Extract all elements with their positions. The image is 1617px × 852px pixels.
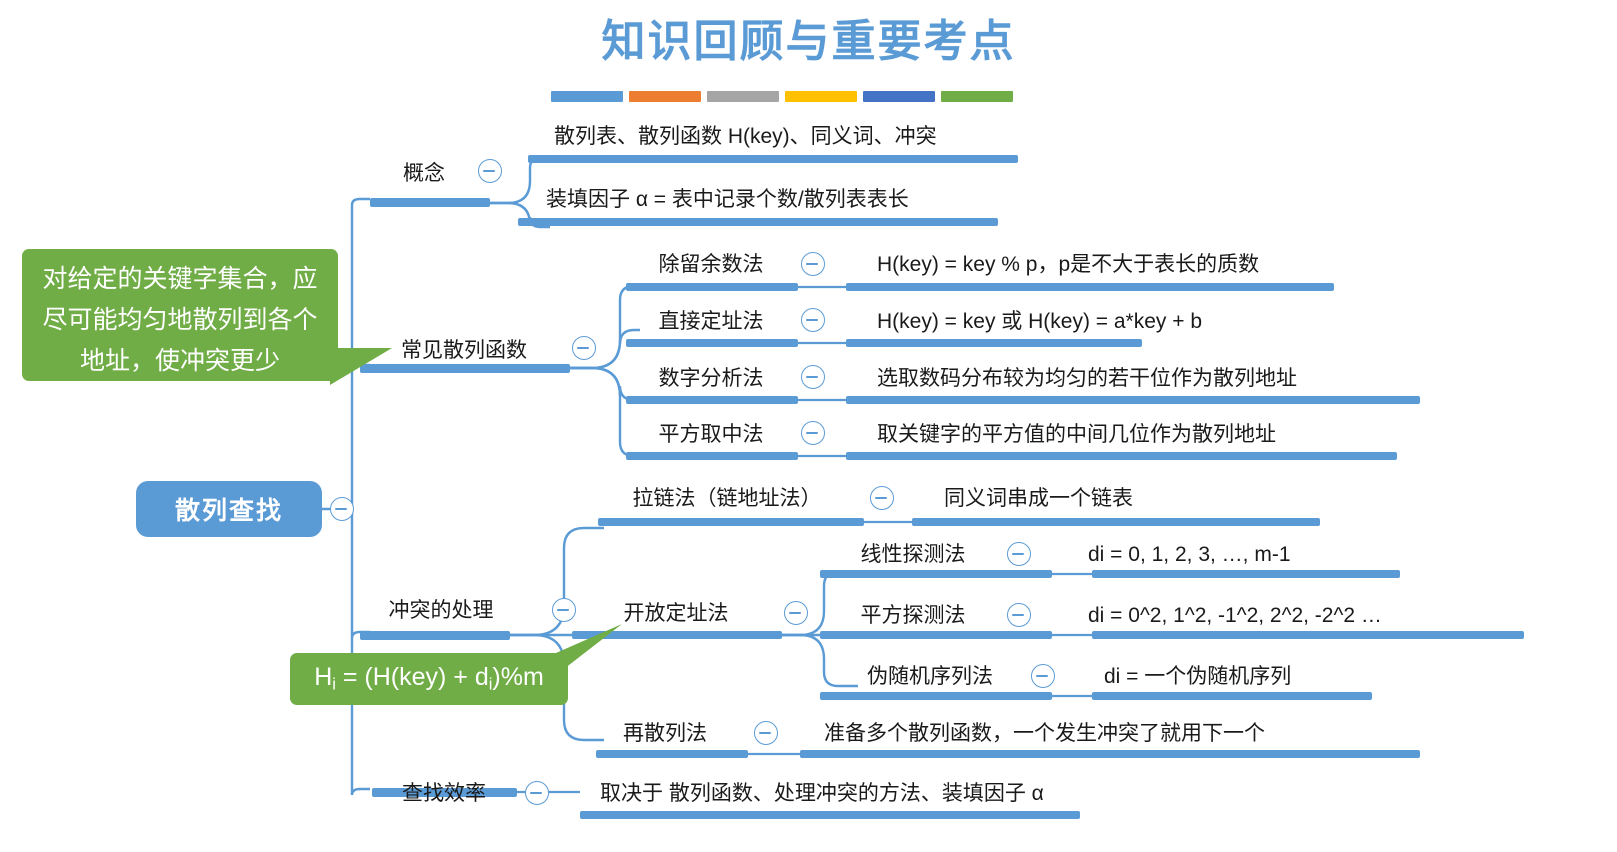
collapse-toggle-linear-probing[interactable] [1007,542,1031,566]
collapse-toggle-mid-square[interactable] [801,421,825,445]
callout-1-line-3: 地址，使冲突更少 [36,341,324,382]
node-detail-chaining[interactable]: 同义词串成一个链表 [944,488,1133,509]
node-detail-mid-square[interactable]: 取关键字的平方值的中间几位作为散列地址 [877,424,1276,445]
node-detail-quadratic-probing[interactable]: di = 0^2, 1^2, -1^2, 2^2, -2^2 … [1088,605,1382,626]
collapse-toggle-mod-method[interactable] [801,252,825,276]
node-label-direct-addressing[interactable]: 直接定址法 [659,311,764,332]
root-node[interactable]: 散列查找 [136,481,322,537]
node-detail-pseudorandom-probing[interactable]: di = 一个伪随机序列 [1104,666,1291,687]
swatch-blue [551,91,623,102]
node-detail-mod-method[interactable]: H(key) = key % p，p是不大于表长的质数 [877,254,1259,275]
collapse-toggle-chaining[interactable] [870,486,894,510]
collapse-toggle-hash-functions[interactable] [572,336,596,360]
node-label-chaining[interactable]: 拉链法（链地址法） [633,488,822,509]
swatch-navy [863,91,935,102]
swatch-green [941,91,1013,102]
node-detail-rehashing[interactable]: 准备多个散列函数，一个发生冲突了就用下一个 [824,723,1265,744]
collapse-toggle-open-addressing[interactable] [784,601,808,625]
node-label-open-addressing[interactable]: 开放定址法 [624,603,729,624]
callout-1-line-1: 对给定的关键字集合，应 [36,259,324,300]
collapse-toggle-pseudorandom-probing[interactable] [1031,664,1055,688]
node-label-hash-functions[interactable]: 常见散列函数 [401,340,527,361]
callout-open-addressing-formula: Hi = (H(key) + di)%m [290,653,568,705]
collapse-toggle-collision-handling[interactable] [552,598,576,622]
callout-1-line-2: 尽可能均匀地散列到各个 [36,300,324,341]
node-label-gainian-child-2[interactable]: 装填因子 α = 表中记录个数/散列表表长 [546,189,909,210]
node-label-mod-method[interactable]: 除留余数法 [659,254,764,275]
callout-hash-uniformity: 对给定的关键字集合，应 尽可能均匀地散列到各个 地址，使冲突更少 [22,249,338,381]
collapse-toggle-root[interactable] [330,497,354,521]
node-label-digit-analysis[interactable]: 数字分析法 [659,368,764,389]
collapse-toggle-search-efficiency[interactable] [525,781,549,805]
page-title: 知识回顾与重要考点 [0,14,1617,70]
node-label-gainian-child-1[interactable]: 散列表、散列函数 H(key)、同义词、冲突 [554,126,937,147]
collapse-toggle-digit-analysis[interactable] [801,365,825,389]
node-label-quadratic-probing[interactable]: 平方探测法 [861,605,966,626]
node-detail-digit-analysis[interactable]: 选取数码分布较为均匀的若干位作为散列地址 [877,368,1297,389]
root-node-label: 散列查找 [175,491,283,527]
mindmap-canvas: 知识回顾与重要考点 [0,0,1617,852]
node-detail-linear-probing[interactable]: di = 0, 1, 2, 3, …, m-1 [1088,544,1291,565]
header: 知识回顾与重要考点 [0,0,1617,118]
node-label-mid-square[interactable]: 平方取中法 [659,424,764,445]
collapse-toggle-rehashing[interactable] [754,721,778,745]
color-swatch-row [551,91,1013,102]
swatch-orange [629,91,701,102]
collapse-toggle-gainian[interactable] [478,159,502,183]
node-label-collision-handling[interactable]: 冲突的处理 [389,600,494,621]
swatch-gray [707,91,779,102]
callout-2-formula: Hi = (H(key) + di)%m [314,663,544,695]
node-label-search-efficiency[interactable]: 查找效率 [402,783,486,804]
node-label-gainian[interactable]: 概念 [403,163,445,184]
collapse-toggle-quadratic-probing[interactable] [1007,603,1031,627]
node-detail-direct-addressing[interactable]: H(key) = key 或 H(key) = a*key + b [877,311,1202,332]
node-label-linear-probing[interactable]: 线性探测法 [861,544,966,565]
node-label-rehashing[interactable]: 再散列法 [623,723,707,744]
collapse-toggle-direct-addressing[interactable] [801,308,825,332]
swatch-yellow [785,91,857,102]
callout-1-arrow [330,310,392,385]
node-label-pseudorandom-probing[interactable]: 伪随机序列法 [867,666,993,687]
node-detail-search-efficiency[interactable]: 取决于 散列函数、处理冲突的方法、装填因子 α [600,783,1044,804]
